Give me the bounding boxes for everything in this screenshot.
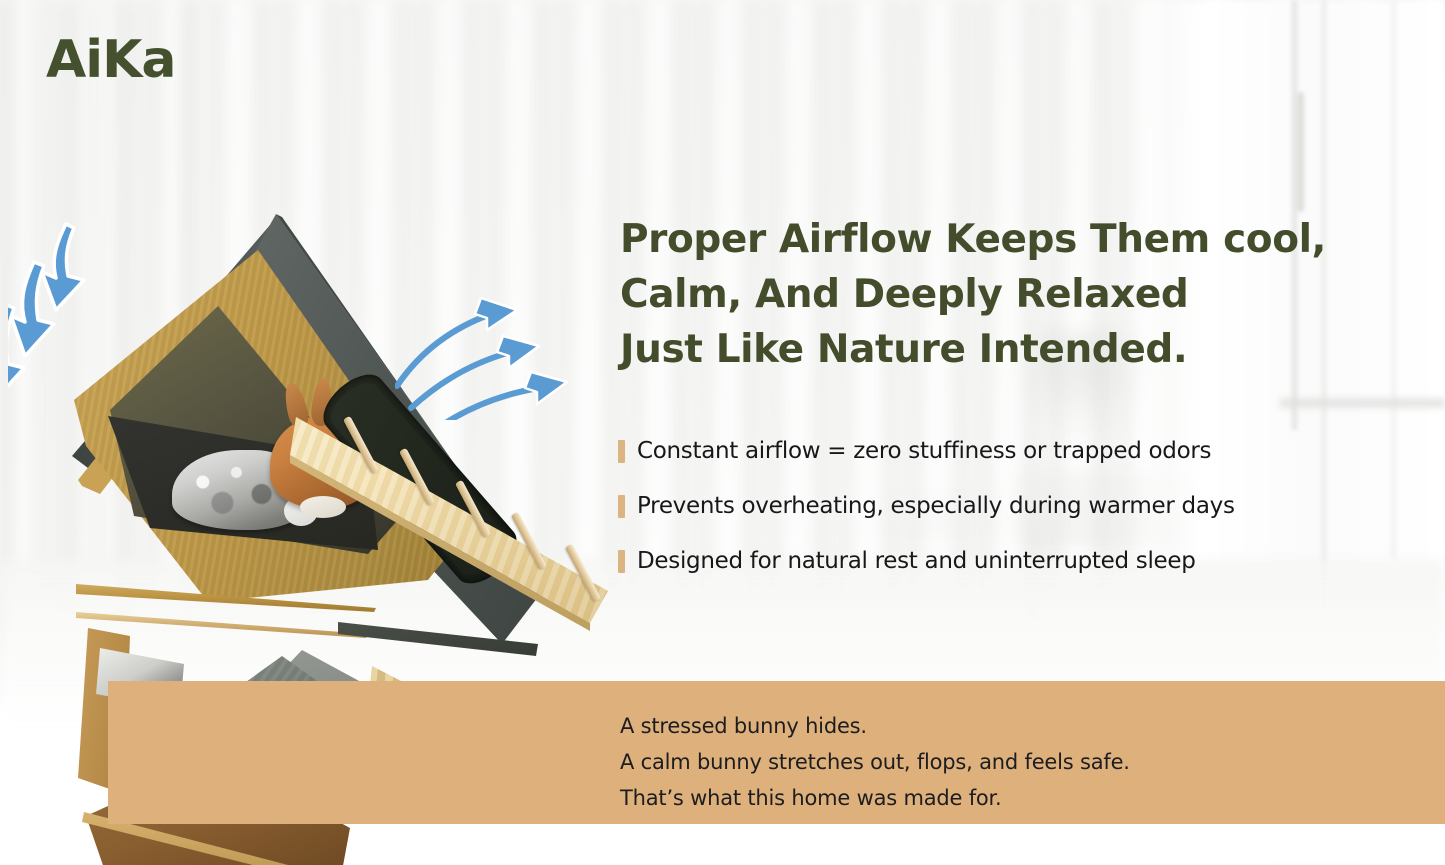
list-item-label: Designed for natural rest and uninterrup… <box>637 548 1196 574</box>
list-item: Designed for natural rest and uninterrup… <box>618 534 1418 588</box>
feature-list: Constant airflow = zero stuffiness or tr… <box>618 424 1418 589</box>
brand-logo: AiKa <box>46 34 175 86</box>
airflow-arrow-in-icon <box>42 224 84 310</box>
airflow-arrow-out-icon <box>447 388 539 420</box>
window-handle <box>1297 92 1304 212</box>
entry-ramp <box>290 415 620 645</box>
footer-copy-line-1: A stressed bunny hides. <box>620 708 1340 744</box>
headline-line-2: Calm, And Deeply Relaxed <box>620 267 1410 322</box>
list-item: Constant airflow = zero stuffiness or tr… <box>618 424 1418 478</box>
promo-banner: AiKa <box>0 0 1445 865</box>
airflow-arrows-outgoing <box>395 290 585 415</box>
airflow-arrows-incoming <box>8 218 208 408</box>
airflow-arrowhead-icon <box>475 298 517 330</box>
brand-logo-text: AiKa <box>46 30 175 90</box>
headline-line-1: Proper Airflow Keeps Them cool, <box>620 212 1410 267</box>
airflow-arrow-out-icon <box>397 314 491 386</box>
footer-copy-line-3: That’s what this home was made for. <box>620 780 1340 816</box>
bullet-marker-icon <box>618 495 625 518</box>
bullet-marker-icon <box>618 550 625 573</box>
list-item-label: Constant airflow = zero stuffiness or tr… <box>637 438 1211 464</box>
footer-copy-line-2: A calm bunny stretches out, flops, and f… <box>620 744 1340 780</box>
list-item: Prevents overheating, especially during … <box>618 479 1418 533</box>
entry-ramp-deck <box>290 415 620 645</box>
window-sill <box>1280 398 1445 408</box>
headline-line-3: Just Like Nature Intended. <box>620 322 1410 377</box>
bullet-marker-icon <box>618 440 625 463</box>
footer-copy: A stressed bunny hides. A calm bunny str… <box>620 708 1340 816</box>
airflow-arrowhead-icon <box>497 336 539 368</box>
list-item-label: Prevents overheating, especially during … <box>637 493 1235 519</box>
airflow-arrowhead-icon <box>525 372 567 404</box>
page-title: Proper Airflow Keeps Them cool, Calm, An… <box>620 212 1410 377</box>
